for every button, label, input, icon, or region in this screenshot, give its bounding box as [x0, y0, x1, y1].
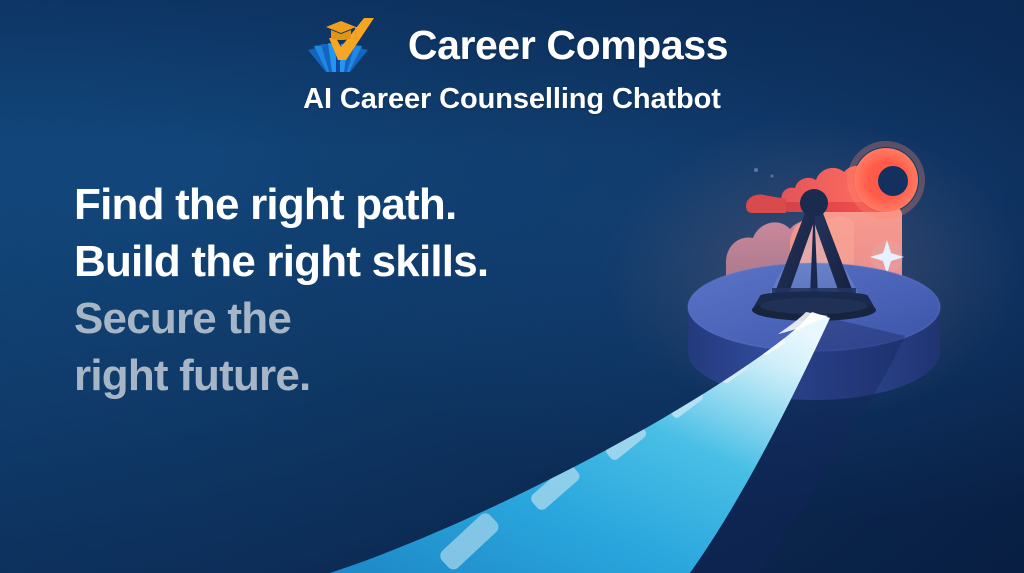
hero-banner: Career Compass AI Career Counselling Cha…	[0, 0, 1024, 573]
brand-header: Career Compass AI Career Counselling Cha…	[0, 14, 1024, 114]
headline-line-2: Build the right skills.	[74, 233, 694, 290]
headline-line-4: right future.	[74, 347, 694, 404]
headline-line-1: Find the right path.	[74, 176, 694, 233]
brand-subtitle: AI Career Counselling Chatbot	[303, 85, 721, 114]
page-title: Career Compass	[408, 25, 728, 66]
headline-line-3: Secure the	[74, 290, 694, 347]
brand-row: Career Compass	[296, 14, 728, 76]
graduation-book-check-icon	[296, 14, 392, 76]
headline-block: Find the right path. Build the right ski…	[74, 176, 694, 404]
book-pages-left	[308, 43, 337, 72]
